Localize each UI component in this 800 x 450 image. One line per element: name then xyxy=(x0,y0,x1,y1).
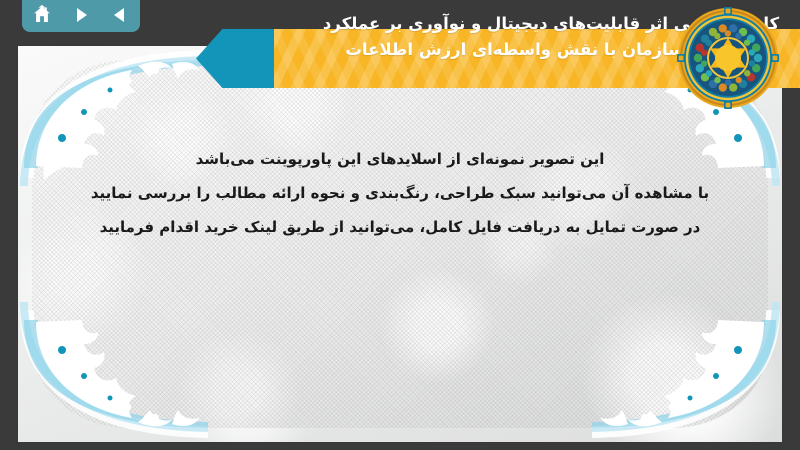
previous-slide-button[interactable] xyxy=(105,2,135,28)
body-line-2: با مشاهده آن می‌توانید سبک طراحی، رنگ‌بن… xyxy=(52,176,748,210)
home-button[interactable] xyxy=(27,2,57,28)
slide-viewer: این تصویر نمونه‌ای از اسلایدهای این پاور… xyxy=(0,0,800,450)
persian-medallion-ornament-icon xyxy=(676,6,780,110)
body-line-3: در صورت تمایل به دریافت فایل کامل، می‌تو… xyxy=(52,210,748,244)
previous-slide-icon xyxy=(110,5,130,25)
home-icon xyxy=(31,4,53,26)
next-slide-icon xyxy=(71,5,91,25)
slide-canvas xyxy=(32,60,768,428)
slide-frame: این تصویر نمونه‌ای از اسلایدهای این پاور… xyxy=(18,46,782,442)
next-slide-button[interactable] xyxy=(66,2,96,28)
banner-arrow-tail xyxy=(196,29,276,88)
slide-frame-inner: این تصویر نمونه‌ای از اسلایدهای این پاور… xyxy=(18,46,782,442)
slide-navigation-bar xyxy=(22,0,140,32)
slide-body-text: این تصویر نمونه‌ای از اسلایدهای این پاور… xyxy=(52,142,748,244)
body-line-1: این تصویر نمونه‌ای از اسلایدهای این پاور… xyxy=(52,142,748,176)
